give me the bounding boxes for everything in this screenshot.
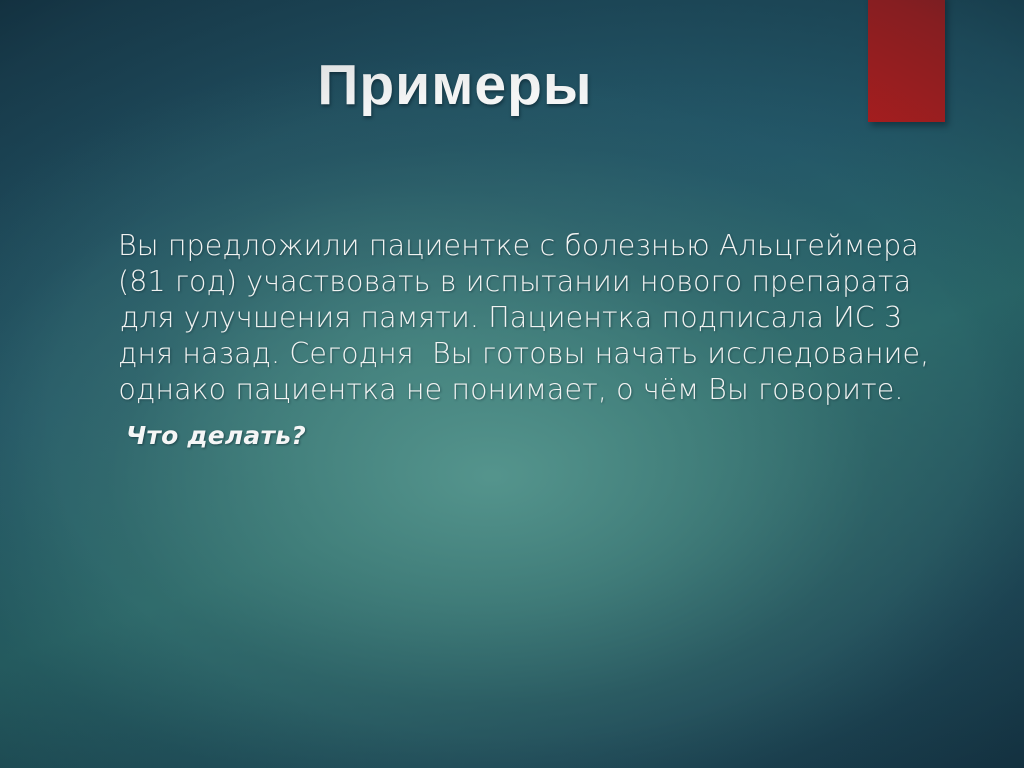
body-line: (81 год) участвовать в испытании нового … — [118, 264, 904, 300]
body-line: дня назад. Сегодня Вы готовы начать иссл… — [118, 336, 904, 372]
body-line: для улучшения памяти. Пациентка подписал… — [118, 300, 904, 336]
question-prompt: Что делать? — [126, 421, 306, 451]
slide-body-text: Вы предложили пациентке с болезнью Альцг… — [118, 228, 904, 408]
body-line: Вы предложили пациентке с болезнью Альцг… — [118, 228, 904, 264]
body-line: однако пациентка не понимает, о чём Вы г… — [118, 372, 904, 408]
presentation-slide: Примеры Вы предложили пациентке с болезн… — [0, 0, 1024, 768]
slide-title: Примеры — [0, 56, 910, 116]
